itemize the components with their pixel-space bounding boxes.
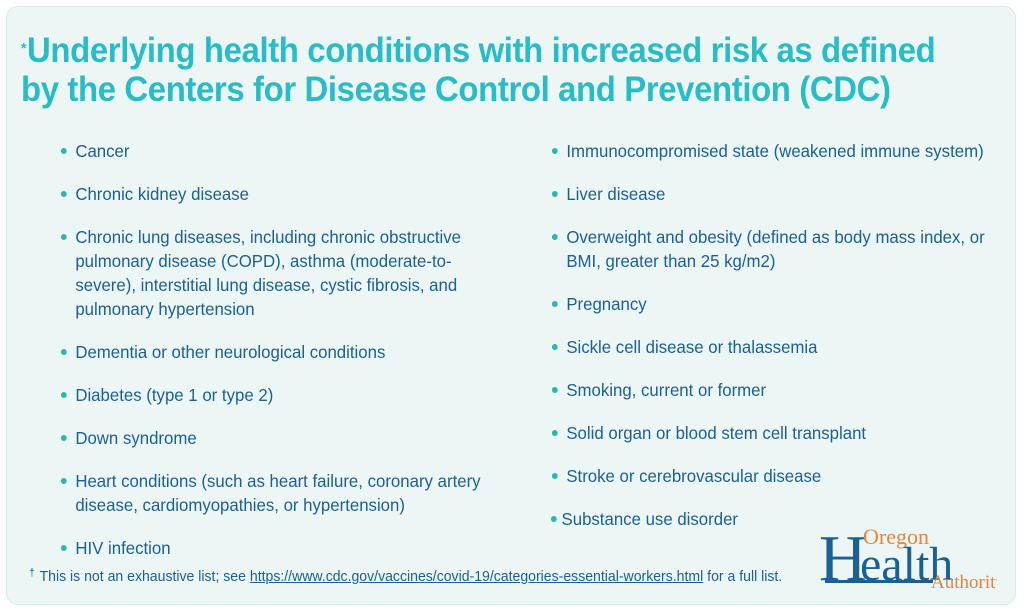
footnote-text-after: for a full list.	[703, 569, 782, 585]
conditions-list-right: Immunocompromised state (weakened immune…	[550, 139, 1010, 531]
list-item: Immunocompromised state (weakened immune…	[550, 139, 992, 163]
footnote-dagger-marker: †	[29, 567, 35, 579]
list-item: Solid organ or blood stem cell transplan…	[550, 421, 992, 445]
conditions-column-right: Immunocompromised state (weakened immune…	[550, 139, 1010, 531]
list-item: Chronic lung diseases, including chronic…	[59, 225, 491, 321]
list-item: Chronic kidney disease	[59, 182, 491, 206]
list-item: Stroke or cerebrovascular disease	[550, 464, 992, 488]
title-dagger-marker: *	[21, 40, 26, 57]
oregon-health-authority-logo: H Oregon ealth Authority	[819, 522, 997, 590]
footnote-text-before: This is not an exhaustive list; see	[36, 569, 250, 585]
logo-word-authority: Authority	[931, 572, 997, 590]
list-item: Liver disease	[550, 182, 992, 206]
conditions-columns: Cancer Chronic kidney disease Chronic lu…	[7, 139, 1016, 529]
list-item: Smoking, current or former	[550, 378, 992, 402]
slide-canvas: *Underlying health conditions with incre…	[6, 6, 1016, 605]
conditions-column-left: Cancer Chronic kidney disease Chronic lu…	[59, 139, 509, 560]
conditions-list-left: Cancer Chronic kidney disease Chronic lu…	[59, 139, 509, 560]
list-item: Dementia or other neurological condition…	[59, 340, 491, 364]
list-item: Sickle cell disease or thalassemia	[550, 335, 992, 359]
list-item: Cancer	[59, 139, 491, 163]
list-item: Overweight and obesity (defined as body …	[550, 225, 992, 273]
title-line-2: by the Centers for Disease Control and P…	[21, 70, 942, 109]
list-item: Heart conditions (such as heart failure,…	[59, 469, 491, 517]
cdc-url-link[interactable]: https://www.cdc.gov/vaccines/covid-19/ca…	[250, 569, 703, 585]
footnote: † This is not an exhaustive list; see ht…	[29, 564, 782, 586]
list-item: Pregnancy	[550, 292, 992, 316]
page-title: *Underlying health conditions with incre…	[21, 29, 1001, 109]
list-item: Down syndrome	[59, 426, 491, 450]
list-item: Diabetes (type 1 or type 2)	[59, 383, 491, 407]
title-line-1-text: Underlying health conditions with increa…	[27, 31, 935, 70]
list-item: HIV infection	[59, 536, 491, 560]
title-line-1: *Underlying health conditions with incre…	[21, 29, 942, 70]
